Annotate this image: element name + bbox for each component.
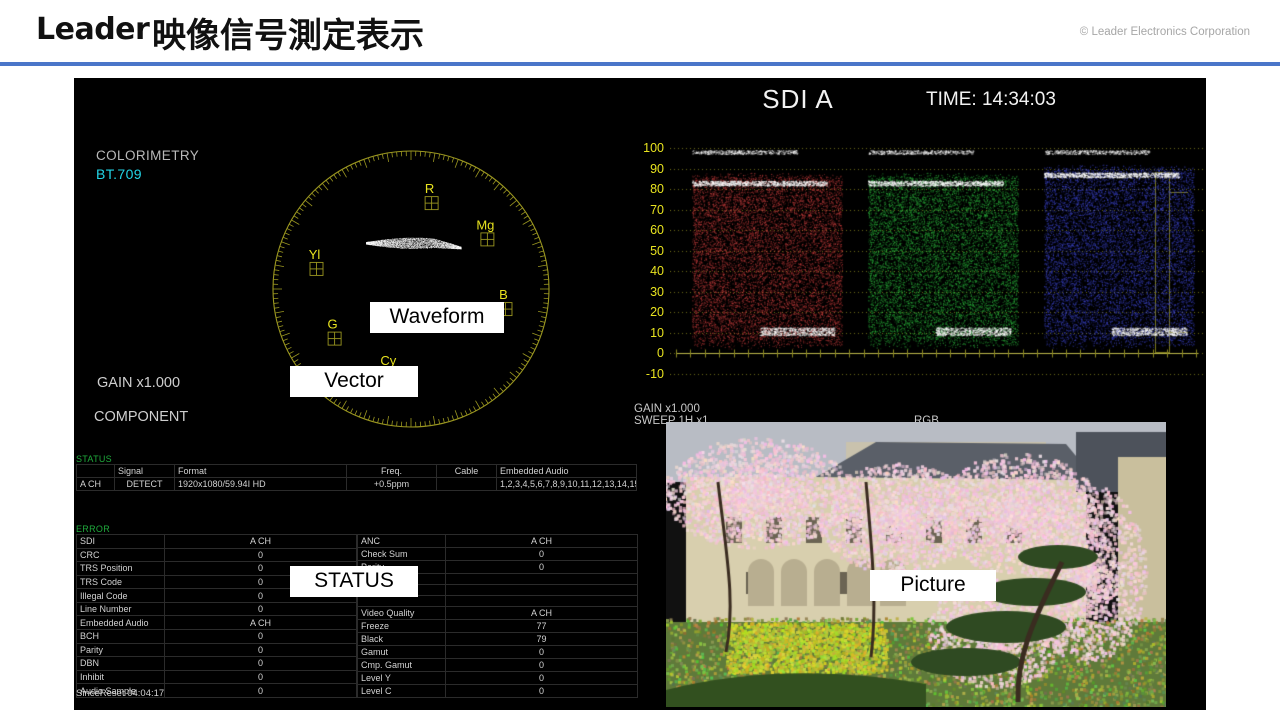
instrument-screen: SDI A TIME: 14:34:03 COLORIMETRY BT.709 … [74,78,1206,710]
status-col-embedded-audio: Embedded Audio [497,465,637,478]
status-col-freq-: Freq. [347,465,437,478]
error-section: ERROR SDIA CHCRC0TRS Position0TRS Code0I… [74,524,634,534]
status-cell: 1,2,3,4,5,6,7,8,9,10,11,12,13,14,15,16 [497,478,637,491]
error-channel-header: A CH [446,535,638,548]
error-row-value: 0 [165,643,357,657]
vectorscope-display[interactable]: RMgBCyGYl [256,130,566,448]
error-row-value: 0 [446,659,638,672]
status-cell [437,478,497,491]
error-row-label: Freeze [358,620,446,633]
error-left-row: CRC0 [77,548,357,562]
leader-logo: Leader [36,12,149,47]
colorimetry-label: COLORIMETRY [96,148,199,163]
error-row-value [446,574,638,585]
status-cell: A CH [77,478,115,491]
error-row-value: 0 [446,672,638,685]
waveform-tick--10: -10 [630,367,664,381]
error-left-row: Inhibit0 [77,670,357,684]
error-group-name: ANC [358,535,446,548]
error-row-label [358,596,446,607]
status-cell: DETECT [115,478,175,491]
error-row-value: 0 [446,561,638,574]
error-row-label: Line Number [77,602,165,616]
status-cell: +0.5ppm [347,478,437,491]
error-channel-header: A CH [446,607,638,620]
error-row-label: TRS Code [77,575,165,589]
svg-text:B: B [499,287,508,302]
error-left-row: Parity0 [77,643,357,657]
status-header-row: SignalFormatFreq.CableEmbedded Audio [77,465,637,478]
picture-display[interactable] [666,422,1166,707]
page-header: Leader 映像信号測定表示 © Leader Electronics Cor… [0,0,1280,62]
waveform-tick-40: 40 [630,264,664,278]
svg-text:G: G [328,317,338,332]
error-group-name: Video Quality [358,607,446,620]
error-right-row: Check Sum0 [358,548,638,561]
waveform-tick-0: 0 [630,346,664,360]
error-row-label: Parity [77,643,165,657]
error-row-label: Cmp. Gamut [358,659,446,672]
error-table-right: ANCA CHCheck Sum0Parity0Video QualityA C… [357,534,638,698]
error-row-label: Black [358,633,446,646]
error-row-value: 0 [446,685,638,698]
waveform-traces [670,136,1206,398]
error-left-group-header: SDIA CH [77,535,357,549]
error-group-name: Embedded Audio [77,616,165,630]
error-right-row: Black79 [358,633,638,646]
waveform-tick-20: 20 [630,305,664,319]
error-row-value: 77 [446,620,638,633]
svg-text:Yl: Yl [309,247,321,262]
error-right-row: Level Y0 [358,672,638,685]
error-row-label: Gamut [358,646,446,659]
error-left-row: DBN0 [77,657,357,671]
svg-text:Mg: Mg [476,217,494,232]
status-col-format: Format [175,465,347,478]
error-row-value: 79 [446,633,638,646]
error-channel-header: A CH [165,535,357,549]
error-row-label: Illegal Code [77,589,165,603]
status-col-signal: Signal [115,465,175,478]
vector-mode-readout: COMPONENT [94,409,188,425]
status-section-title: STATUS [74,454,634,464]
error-row-value [446,585,638,596]
error-right-row [358,596,638,607]
error-left-group-header: Embedded AudioA CH [77,616,357,630]
vectorscope-graticule: RMgBCyGYl [256,130,566,448]
error-row-label: Level C [358,685,446,698]
since-reset-readout: SinceReset 04:04:17 [76,688,164,699]
status-row: A CHDETECT1920x1080/59.94I HD+0.5ppm1,2,… [77,478,637,491]
error-row-value: 0 [165,602,357,616]
overlay-label-picture: Picture [870,570,996,601]
error-group-name: SDI [77,535,165,549]
waveform-tick-100: 100 [630,141,664,155]
picture-thumbnail [666,422,1166,707]
error-left-row: Line Number0 [77,602,357,616]
error-left-row: BCH0 [77,630,357,644]
error-right-group-header: ANCA CH [358,535,638,548]
status-col-cable: Cable [437,465,497,478]
waveform-scale: 1009080706050403020100-10 [630,136,664,398]
status-cell: 1920x1080/59.94I HD [175,478,347,491]
error-row-value [446,596,638,607]
waveform-display[interactable]: 1009080706050403020100-10 [630,136,1206,398]
error-row-value: 0 [165,548,357,562]
vector-gain-readout: GAIN x1.000 [97,375,180,391]
error-row-value: 0 [165,630,357,644]
error-right-row: Level C0 [358,685,638,698]
error-row-value: 0 [446,646,638,659]
vector-trace [361,230,471,262]
status-table: SignalFormatFreq.CableEmbedded AudioA CH… [76,464,637,491]
waveform-tick-30: 30 [630,285,664,299]
error-right-row: Gamut0 [358,646,638,659]
waveform-tick-80: 80 [630,182,664,196]
copyright-notice: © Leader Electronics Corporation [1080,26,1250,38]
error-row-label: BCH [77,630,165,644]
svg-text:R: R [425,181,434,196]
header-divider [0,62,1280,66]
error-channel-header: A CH [165,616,357,630]
status-section: STATUS SignalFormatFreq.CableEmbedded Au… [74,454,634,464]
colorimetry-value: BT.709 [96,166,199,182]
error-section-title: ERROR [74,524,634,534]
error-right-row: Freeze77 [358,620,638,633]
waveform-tick-90: 90 [630,162,664,176]
error-row-value: 0 [165,670,357,684]
time-readout: TIME: 14:34:03 [926,89,1056,111]
overlay-label-vector: Vector [290,366,418,397]
input-title: SDI A [678,84,918,115]
error-row-label: Check Sum [358,548,446,561]
waveform-tick-10: 10 [630,326,664,340]
error-table-left: SDIA CHCRC0TRS Position0TRS Code0Illegal… [76,534,357,698]
error-row-label: CRC [77,548,165,562]
waveform-gain-readout: GAIN x1.000 [634,403,700,415]
error-row-value: 0 [165,684,357,698]
waveform-tick-60: 60 [630,223,664,237]
status-col-blank [77,465,115,478]
error-row-label: Inhibit [77,670,165,684]
error-row-value: 0 [446,548,638,561]
waveform-tick-50: 50 [630,244,664,258]
overlay-label-status: STATUS [290,566,418,597]
error-right-row: Cmp. Gamut0 [358,659,638,672]
error-right-group-header: Video QualityA CH [358,607,638,620]
page-title: 映像信号測定表示 [152,8,424,57]
error-row-label: Level Y [358,672,446,685]
overlay-label-waveform: Waveform [370,302,504,333]
error-row-value: 0 [165,657,357,671]
status-table-wrap: SignalFormatFreq.CableEmbedded AudioA CH… [76,464,637,491]
error-tables: SDIA CHCRC0TRS Position0TRS Code0Illegal… [76,534,638,698]
colorimetry-block: COLORIMETRY BT.709 [96,148,199,182]
error-row-label: DBN [77,657,165,671]
error-row-label: TRS Position [77,562,165,576]
waveform-tick-70: 70 [630,203,664,217]
